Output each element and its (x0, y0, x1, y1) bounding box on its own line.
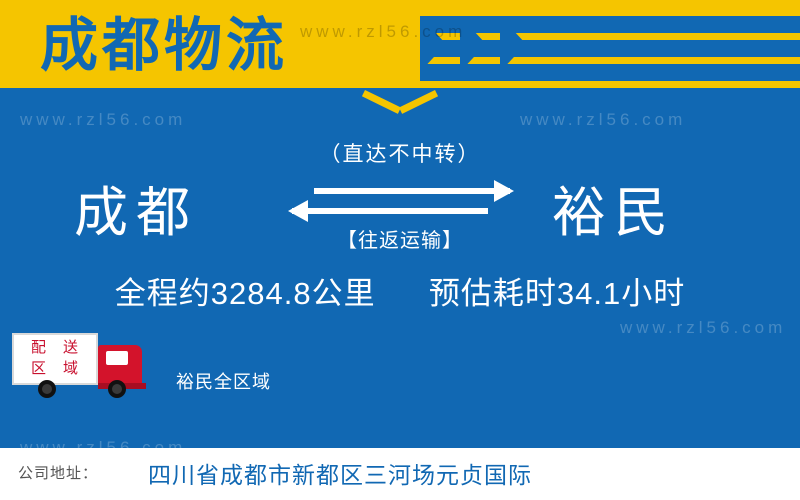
roundtrip-note: 【往返运输】 (290, 224, 510, 253)
double-arrow-icon (288, 182, 514, 222)
chevron-down-icon (365, 88, 435, 114)
watermark: www.rzl56.com (520, 110, 686, 130)
destination-city: 裕民 (552, 168, 676, 247)
header-stripe (420, 40, 800, 57)
delivery-badge-line1: 配 送 (18, 337, 92, 358)
delivery-badge-line2: 区 域 (18, 358, 92, 379)
distance-value: 全程约3284.8公里 (115, 276, 376, 311)
route-metrics: 全程约3284.8公里 预估耗时34.1小时 (0, 268, 800, 313)
watermark: www.rzl56.com (300, 22, 466, 42)
logistics-banner: 成都物流 www.rzl56.com www.rzl56.com www.rzl… (0, 0, 800, 500)
header-stripe (420, 16, 800, 33)
delivery-truck-icon: 配 送 区 域 (12, 333, 162, 403)
address-value: 四川省成都市新都区三河场元贞国际 (148, 456, 532, 490)
coverage-area: 裕民全区域 (176, 368, 271, 394)
watermark: www.rzl56.com (620, 318, 786, 338)
header-band: 成都物流 (0, 0, 800, 88)
header-stripe (420, 64, 800, 81)
address-label: 公司地址： (18, 462, 98, 483)
origin-city: 成都 (74, 168, 198, 247)
duration-value: 预估耗时34.1小时 (429, 276, 685, 311)
direct-shipping-note: （直达不中转） (290, 138, 510, 168)
page-title: 成都物流 (40, 6, 288, 86)
watermark: www.rzl56.com (20, 110, 186, 130)
footer-bar: 公司地址： 四川省成都市新都区三河场元贞国际 (0, 448, 800, 500)
